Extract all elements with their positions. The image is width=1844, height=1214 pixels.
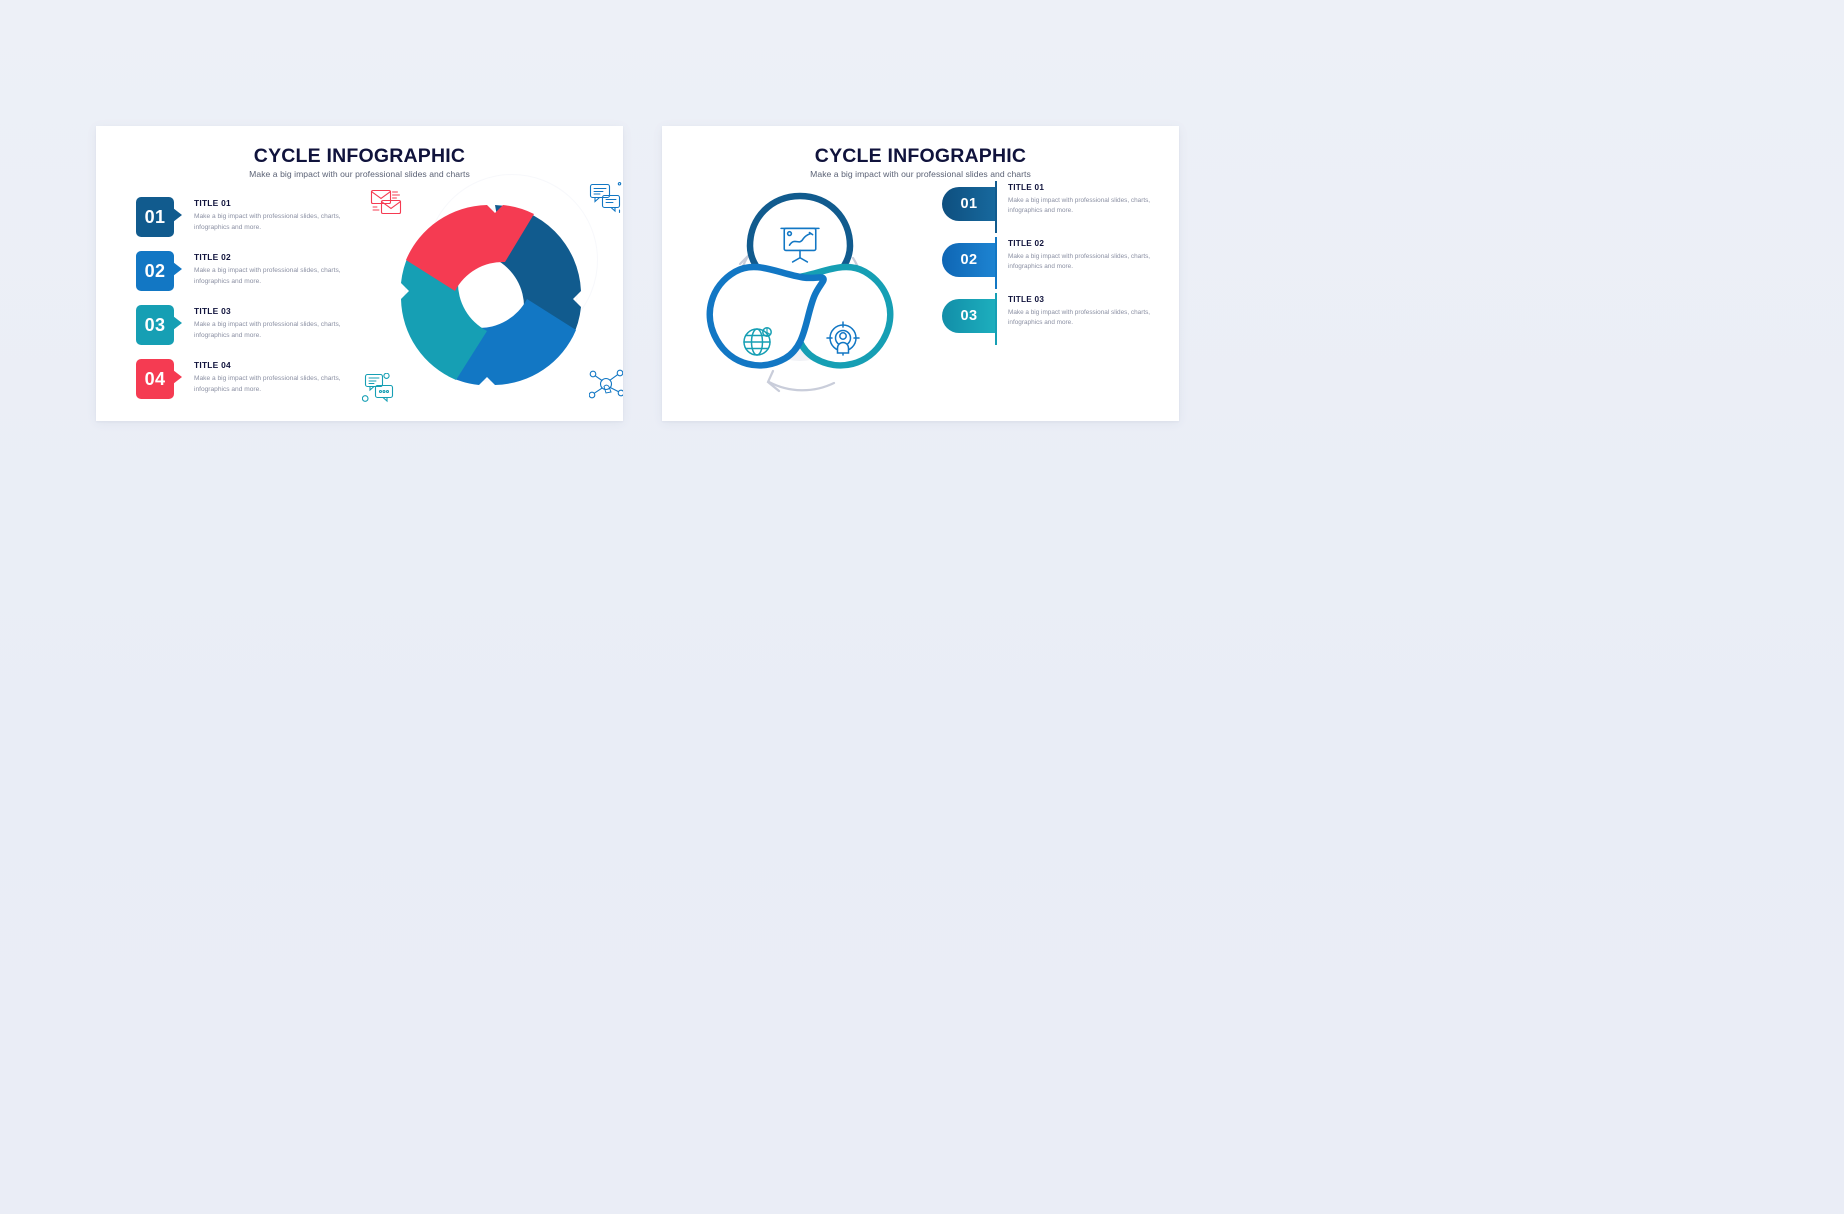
list-item-description: Make a big impact with professional slid… bbox=[1008, 252, 1158, 273]
list-item[interactable]: 02 TITLE 02 Make a big impact with profe… bbox=[942, 237, 1157, 293]
slide-1-title: CYCLE INFOGRAPHIC bbox=[96, 145, 623, 168]
donut-chart-svg bbox=[374, 178, 609, 408]
list-item-text: TITLE 03 Make a big impact with professi… bbox=[194, 306, 364, 341]
trefoil-cycle-chart[interactable] bbox=[680, 174, 920, 414]
number-badge-03[interactable]: 03 bbox=[942, 299, 996, 333]
slide-2-title: CYCLE INFOGRAPHIC bbox=[662, 145, 1179, 168]
trefoil-chart-svg bbox=[680, 174, 920, 414]
list-item[interactable]: 03 TITLE 03 Make a big impact with profe… bbox=[942, 293, 1157, 349]
list-item-description: Make a big impact with professional slid… bbox=[194, 374, 364, 395]
badge-number: 03 bbox=[961, 308, 978, 324]
list-item-title: TITLE 01 bbox=[1008, 183, 1158, 192]
list-item-text: TITLE 02 Make a big impact with professi… bbox=[1008, 239, 1158, 273]
envelope-mail-icon bbox=[370, 188, 404, 221]
list-item-title: TITLE 02 bbox=[1008, 239, 1158, 248]
badge-accent-bar bbox=[995, 293, 997, 345]
badge-accent-bar bbox=[995, 181, 997, 233]
badge-pointer-icon bbox=[173, 316, 182, 330]
donut-cycle-chart[interactable] bbox=[374, 178, 609, 408]
list-item-text: TITLE 01 Make a big impact with professi… bbox=[1008, 183, 1158, 217]
list-item-description: Make a big impact with professional slid… bbox=[194, 212, 364, 233]
page-canvas: CYCLE INFOGRAPHIC Make a big impact with… bbox=[0, 0, 1844, 1214]
list-item-title: TITLE 03 bbox=[1008, 295, 1158, 304]
badge-accent-bar bbox=[995, 237, 997, 289]
list-item[interactable]: 04 TITLE 04 Make a big impact with profe… bbox=[136, 359, 366, 406]
badge-number: 03 bbox=[145, 315, 166, 336]
list-item-description: Make a big impact with professional slid… bbox=[1008, 196, 1158, 217]
slide-cycle-trefoil[interactable]: CYCLE INFOGRAPHIC Make a big impact with… bbox=[662, 126, 1179, 421]
list-item[interactable]: 03 TITLE 03 Make a big impact with profe… bbox=[136, 305, 366, 352]
number-badge-02[interactable]: 02 bbox=[942, 243, 996, 277]
slide-2-item-list: 01 TITLE 01 Make a big impact with profe… bbox=[942, 181, 1157, 349]
badge-number: 02 bbox=[145, 261, 166, 282]
chat-message-icon bbox=[362, 373, 398, 410]
list-item-title: TITLE 03 bbox=[194, 306, 364, 316]
list-item-description: Make a big impact with professional slid… bbox=[194, 266, 364, 287]
list-item-text: TITLE 01 Make a big impact with professi… bbox=[194, 198, 364, 233]
badge-number: 01 bbox=[961, 196, 978, 212]
badge-pointer-icon bbox=[173, 370, 182, 384]
network-nodes-icon bbox=[589, 369, 623, 406]
slide-1-item-list: 01 TITLE 01 Make a big impact with profe… bbox=[136, 197, 366, 413]
list-item-text: TITLE 04 Make a big impact with professi… bbox=[194, 360, 364, 395]
list-item-text: TITLE 02 Make a big impact with professi… bbox=[194, 252, 364, 287]
number-badge-02[interactable]: 02 bbox=[136, 251, 174, 291]
number-badge-01[interactable]: 01 bbox=[136, 197, 174, 237]
badge-number: 04 bbox=[145, 369, 166, 390]
list-item-title: TITLE 04 bbox=[194, 360, 364, 370]
list-item-title: TITLE 01 bbox=[194, 198, 364, 208]
list-item-description: Make a big impact with professional slid… bbox=[1008, 308, 1158, 329]
badge-pointer-icon bbox=[173, 208, 182, 222]
badge-number: 02 bbox=[961, 252, 978, 268]
list-item-text: TITLE 03 Make a big impact with professi… bbox=[1008, 295, 1158, 329]
badge-pointer-icon bbox=[173, 262, 182, 276]
list-item-title: TITLE 02 bbox=[194, 252, 364, 262]
list-item[interactable]: 01 TITLE 01 Make a big impact with profe… bbox=[942, 181, 1157, 237]
chat-bubbles-icon bbox=[589, 182, 623, 219]
cycle-arrow-bottom-icon bbox=[768, 371, 834, 391]
list-item-description: Make a big impact with professional slid… bbox=[194, 320, 364, 341]
number-badge-03[interactable]: 03 bbox=[136, 305, 174, 345]
slide-cycle-donut[interactable]: CYCLE INFOGRAPHIC Make a big impact with… bbox=[96, 126, 623, 421]
number-badge-01[interactable]: 01 bbox=[942, 187, 996, 221]
list-item[interactable]: 01 TITLE 01 Make a big impact with profe… bbox=[136, 197, 366, 244]
list-item[interactable]: 02 TITLE 02 Make a big impact with profe… bbox=[136, 251, 366, 298]
badge-number: 01 bbox=[145, 207, 166, 228]
number-badge-04[interactable]: 04 bbox=[136, 359, 174, 399]
